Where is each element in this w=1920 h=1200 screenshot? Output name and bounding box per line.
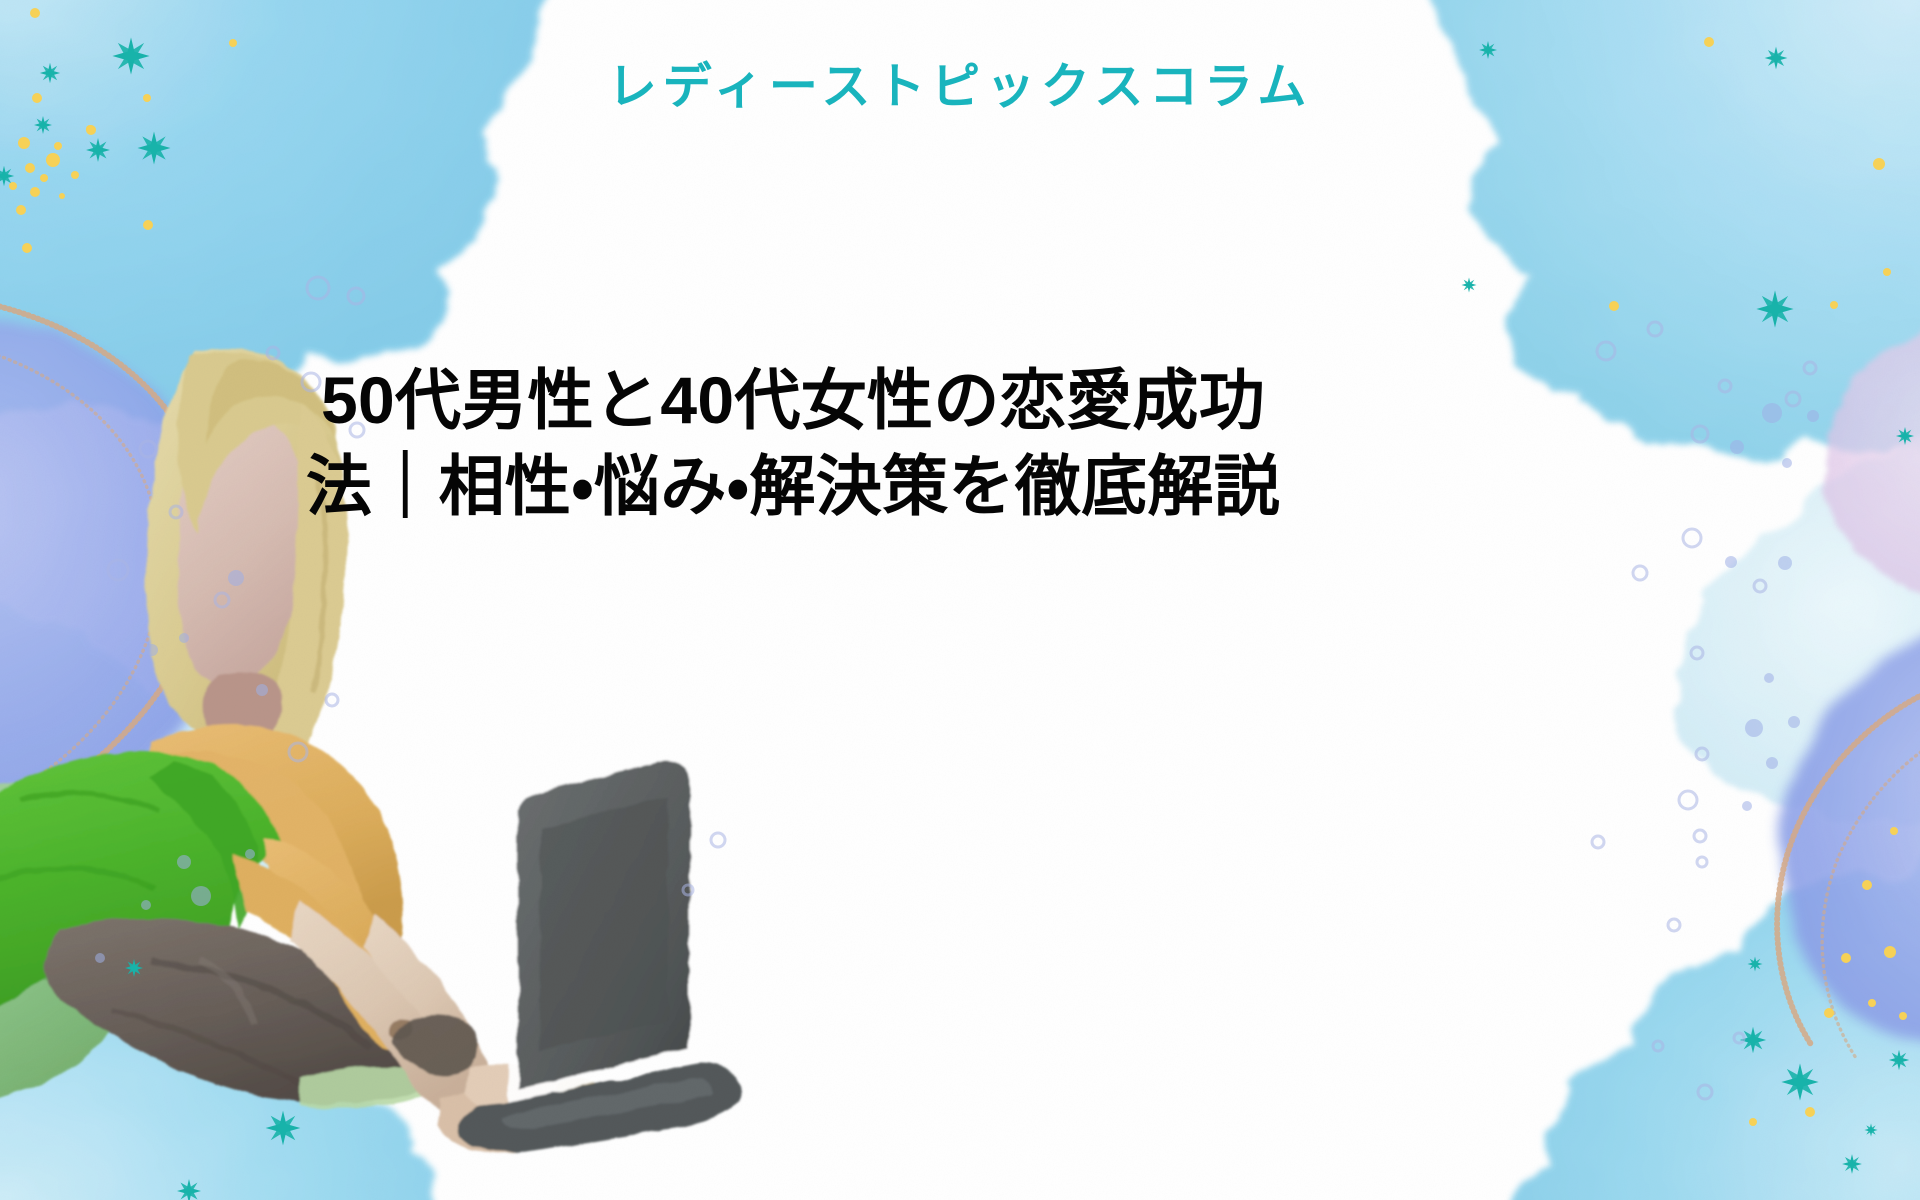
page-title: 50代男性と40代女性の恋愛成功法｜相性・悩み・解決策を徹底解説	[288, 358, 1298, 530]
eyecatch-canvas: レディーストピックスコラム 50代男性と40代女性の恋愛成功法｜相性・悩み・解決…	[0, 0, 1920, 1200]
watercolor-background-art	[0, 0, 1920, 1200]
page-title-text: 50代男性と40代女性の恋愛成功法｜相性・悩み・解決策を徹底解説	[288, 358, 1298, 530]
kicker-label: レディーストピックスコラム	[0, 58, 1920, 117]
